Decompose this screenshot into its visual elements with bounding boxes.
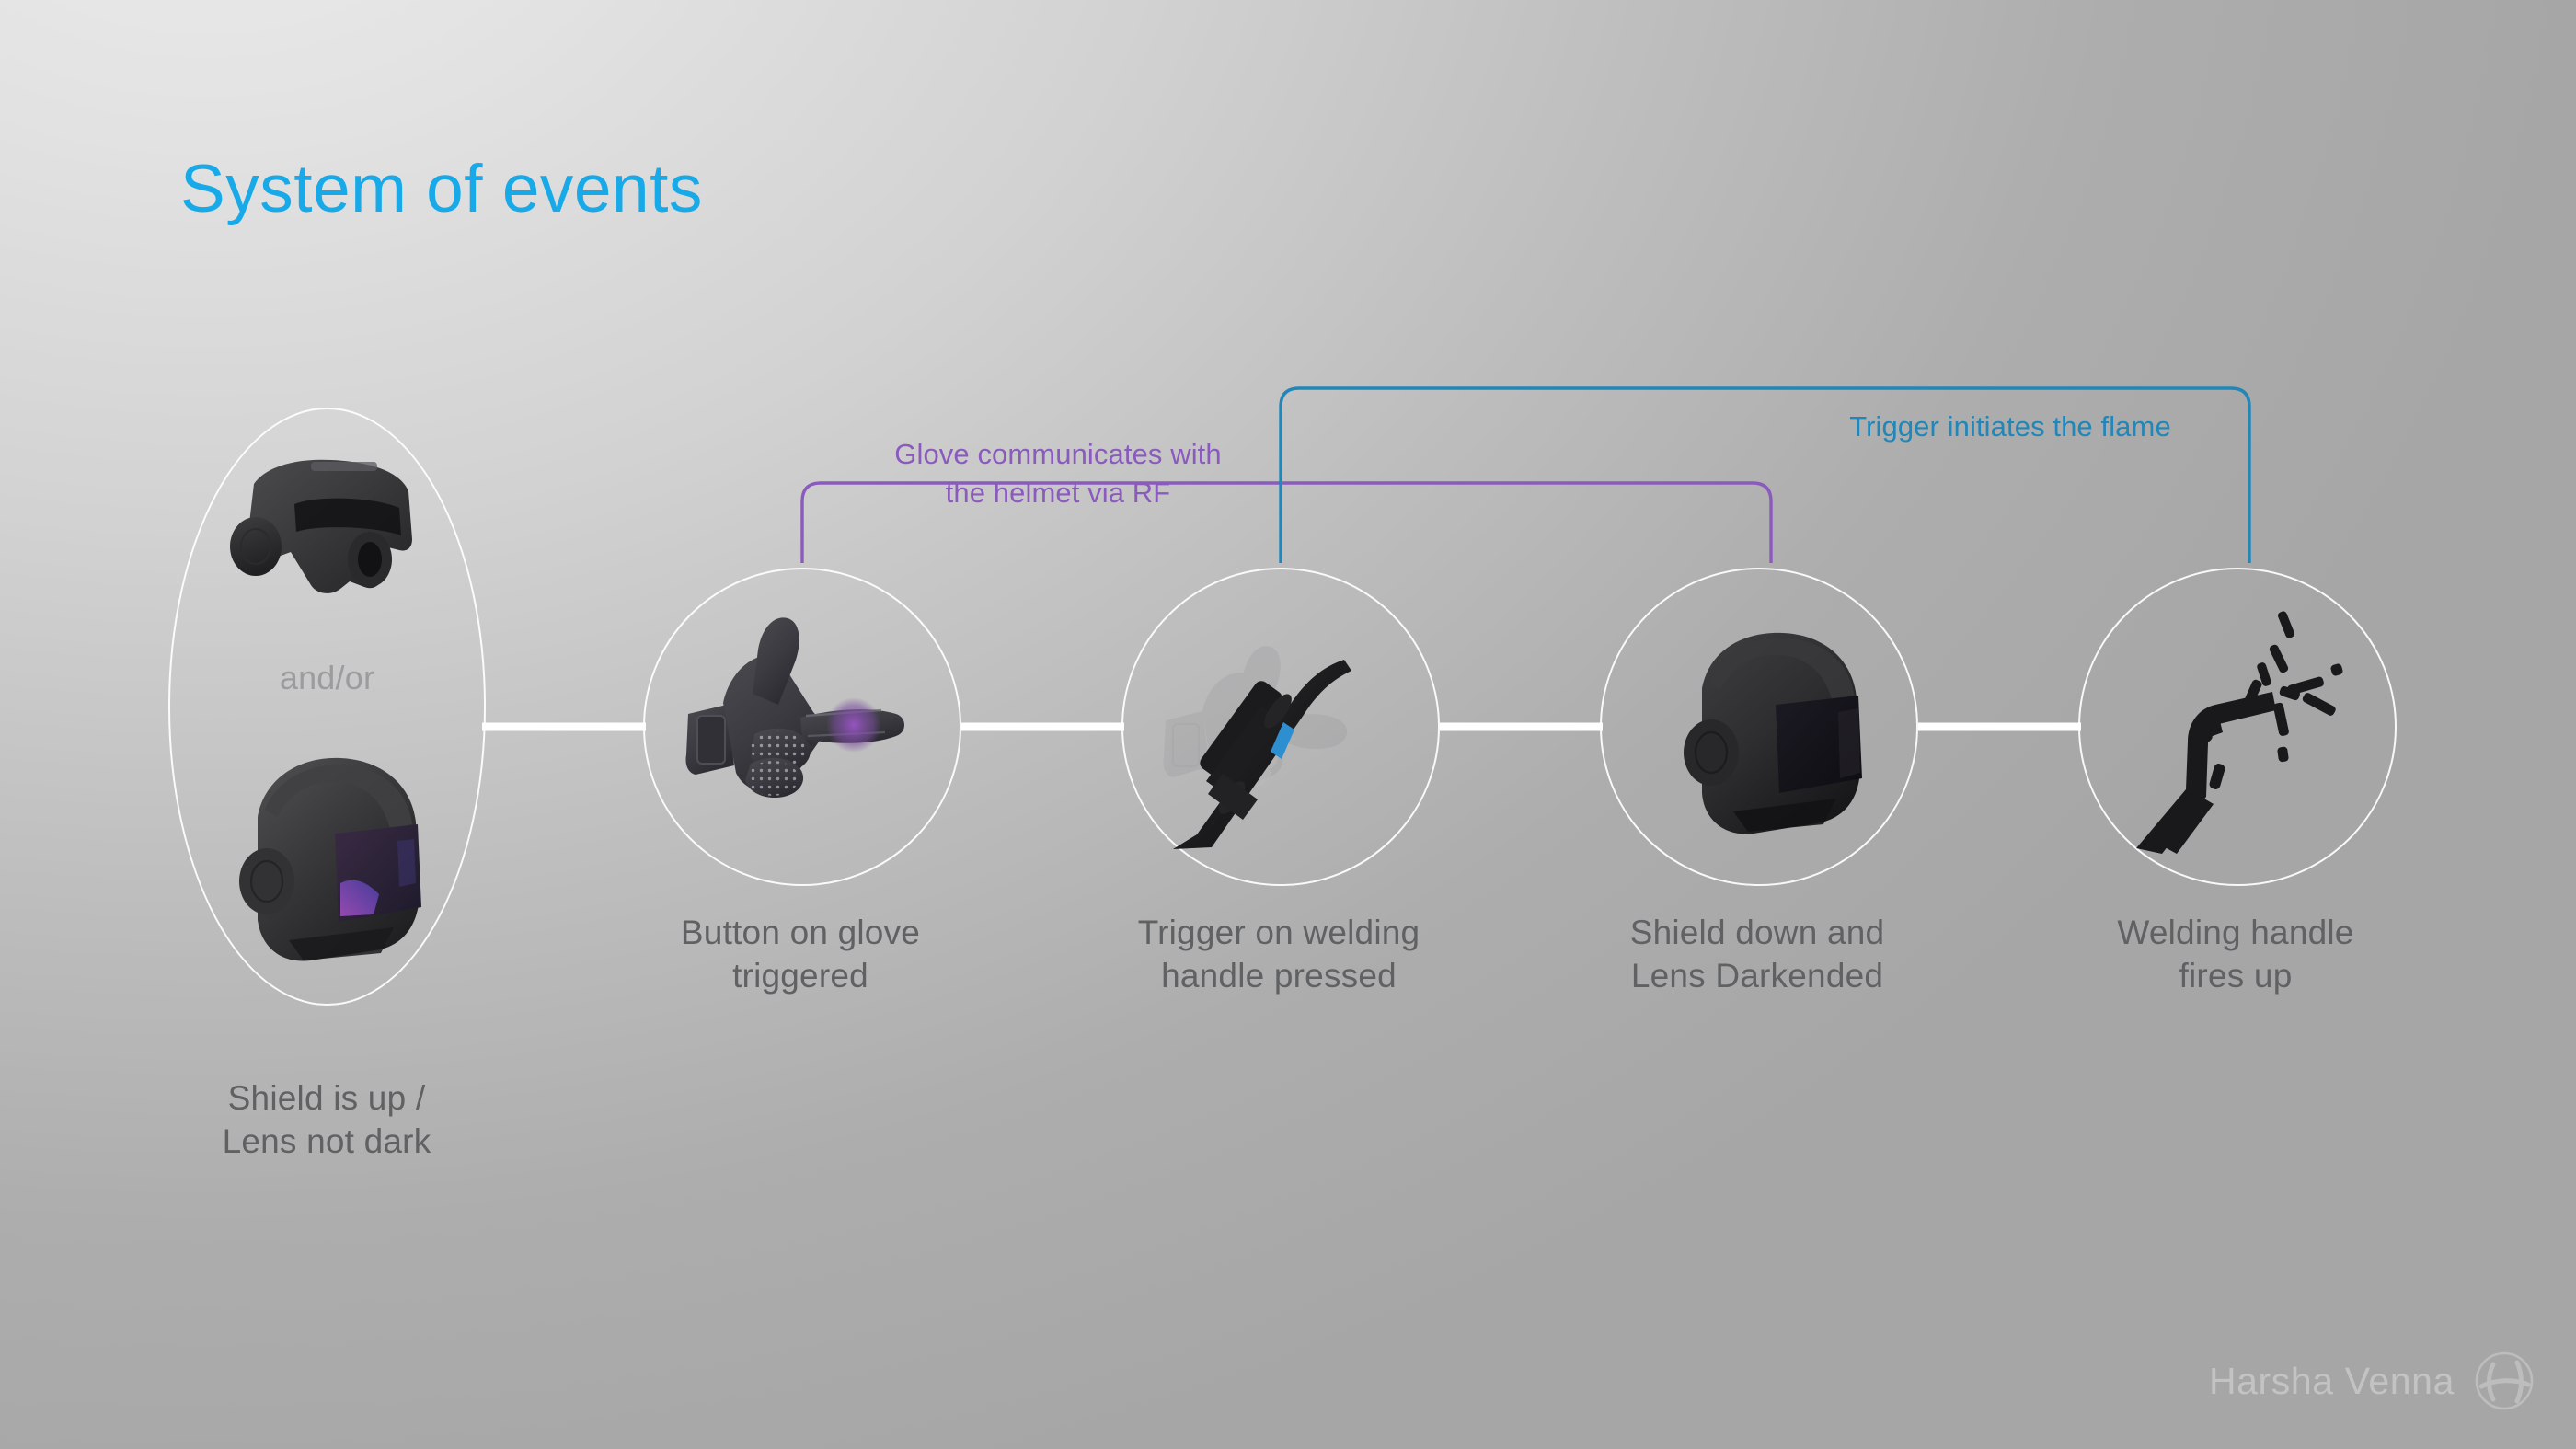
signature: Harsha Venna (2209, 1351, 2534, 1410)
annotation-line: Glove communicates with (773, 435, 1343, 474)
node-shield-up[interactable] (168, 408, 486, 1006)
caption-line: Shield is up / (78, 1076, 575, 1120)
caption-handle-trigger: Trigger on welding handle pressed (1040, 911, 1518, 998)
caption-line: Welding handle (1996, 911, 2475, 954)
caption-shield-down: Shield down and Lens Darkended (1518, 911, 1996, 998)
annotation-flame-link: Trigger initiates the flame (1753, 408, 2268, 446)
caption-line: Button on glove (561, 911, 1040, 954)
caption-line: Lens not dark (78, 1120, 575, 1163)
node-shield-down[interactable] (1600, 568, 1918, 886)
caption-line: Lens Darkended (1518, 954, 1996, 997)
annotation-rf-link: Glove communicates with the helmet via R… (773, 435, 1343, 512)
caption-line: handle pressed (1040, 954, 1518, 997)
node-glove-button[interactable] (643, 568, 961, 886)
caption-line: triggered (561, 954, 1040, 997)
caption-handle-fires: Welding handle fires up (1996, 911, 2475, 998)
caption-line: Trigger on welding (1040, 911, 1518, 954)
caption-line: fires up (1996, 954, 2475, 997)
caption-line: Shield down and (1518, 911, 1996, 954)
node-handle-fires[interactable] (2078, 568, 2397, 886)
caption-shield-up: Shield is up / Lens not dark (78, 1076, 575, 1164)
node-divider-label: and/or (168, 659, 486, 697)
slide-canvas: System of events (0, 0, 2576, 1449)
annotation-line: the helmet via RF (773, 474, 1343, 512)
signature-name: Harsha Venna (2209, 1360, 2455, 1403)
caption-glove-button: Button on glove triggered (561, 911, 1040, 998)
annotation-line: Trigger initiates the flame (1753, 408, 2268, 446)
node-handle-trigger[interactable] (1121, 568, 1440, 886)
h-monogram-circle-icon (2475, 1351, 2534, 1410)
